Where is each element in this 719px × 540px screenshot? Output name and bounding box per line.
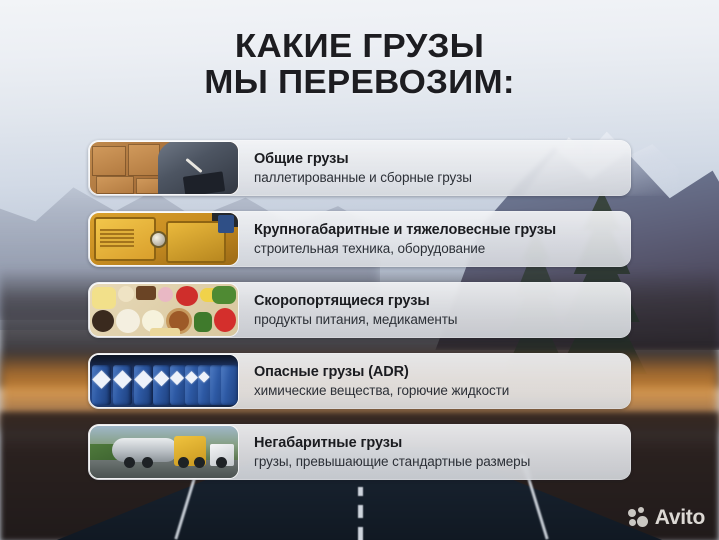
cargo-title: Негабаритные грузы — [254, 435, 530, 452]
list-item[interactable]: Крупногабаритные и тяжеловесные грузы ст… — [88, 211, 631, 267]
list-item[interactable]: Негабаритные грузы грузы, превышающие ст… — [88, 424, 631, 480]
cargo-title: Крупногабаритные и тяжеловесные грузы — [254, 222, 556, 239]
cargo-text: Общие грузы паллетированные и сборные гр… — [238, 151, 472, 186]
cargo-subtitle: продукты питания, медикаменты — [254, 311, 457, 328]
avito-wordmark: Avito — [655, 507, 705, 528]
avito-logo-icon — [628, 507, 649, 528]
list-item[interactable]: Скоропортящиеся грузы продукты питания, … — [88, 282, 631, 338]
cargo-title: Общие грузы — [254, 151, 472, 168]
poster: КАКИЕ ГРУЗЫ МЫ ПЕРЕВОЗИМ: Общие грузы па… — [0, 0, 719, 540]
cargo-thumbnail-general-cargo — [90, 142, 238, 194]
list-item[interactable]: Опасные грузы (ADR) химические вещества,… — [88, 353, 631, 409]
cargo-thumbnail-heavy-machinery — [90, 213, 238, 265]
cargo-thumbnail-oversized-cargo — [90, 426, 238, 478]
page-title: КАКИЕ ГРУЗЫ МЫ ПЕРЕВОЗИМ: — [0, 28, 719, 100]
cargo-list: Общие грузы паллетированные и сборные гр… — [88, 140, 631, 480]
cargo-subtitle: строительная техника, оборудование — [254, 240, 556, 257]
list-item[interactable]: Общие грузы паллетированные и сборные гр… — [88, 140, 631, 196]
road-center-dash — [358, 505, 363, 518]
page-title-line-1: КАКИЕ ГРУЗЫ — [0, 28, 719, 64]
cargo-subtitle: химические вещества, горючие жидкости — [254, 382, 509, 399]
cargo-text: Опасные грузы (ADR) химические вещества,… — [238, 364, 509, 399]
cargo-subtitle: паллетированные и сборные грузы — [254, 169, 472, 186]
cargo-subtitle: грузы, превышающие стандартные размеры — [254, 453, 530, 470]
cargo-thumbnail-dangerous-goods — [90, 355, 238, 407]
page-title-line-2: МЫ ПЕРЕВОЗИМ: — [0, 64, 719, 100]
cargo-title: Опасные грузы (ADR) — [254, 364, 509, 381]
cargo-title: Скоропортящиеся грузы — [254, 293, 457, 310]
road-center-dash — [358, 527, 363, 540]
cargo-text: Скоропортящиеся грузы продукты питания, … — [238, 293, 457, 328]
avito-watermark: Avito — [628, 507, 705, 528]
cargo-thumbnail-perishable-goods — [90, 284, 238, 336]
cargo-text: Крупногабаритные и тяжеловесные грузы ст… — [238, 222, 556, 257]
road-center-dash — [358, 487, 363, 496]
cargo-text: Негабаритные грузы грузы, превышающие ст… — [238, 435, 530, 470]
